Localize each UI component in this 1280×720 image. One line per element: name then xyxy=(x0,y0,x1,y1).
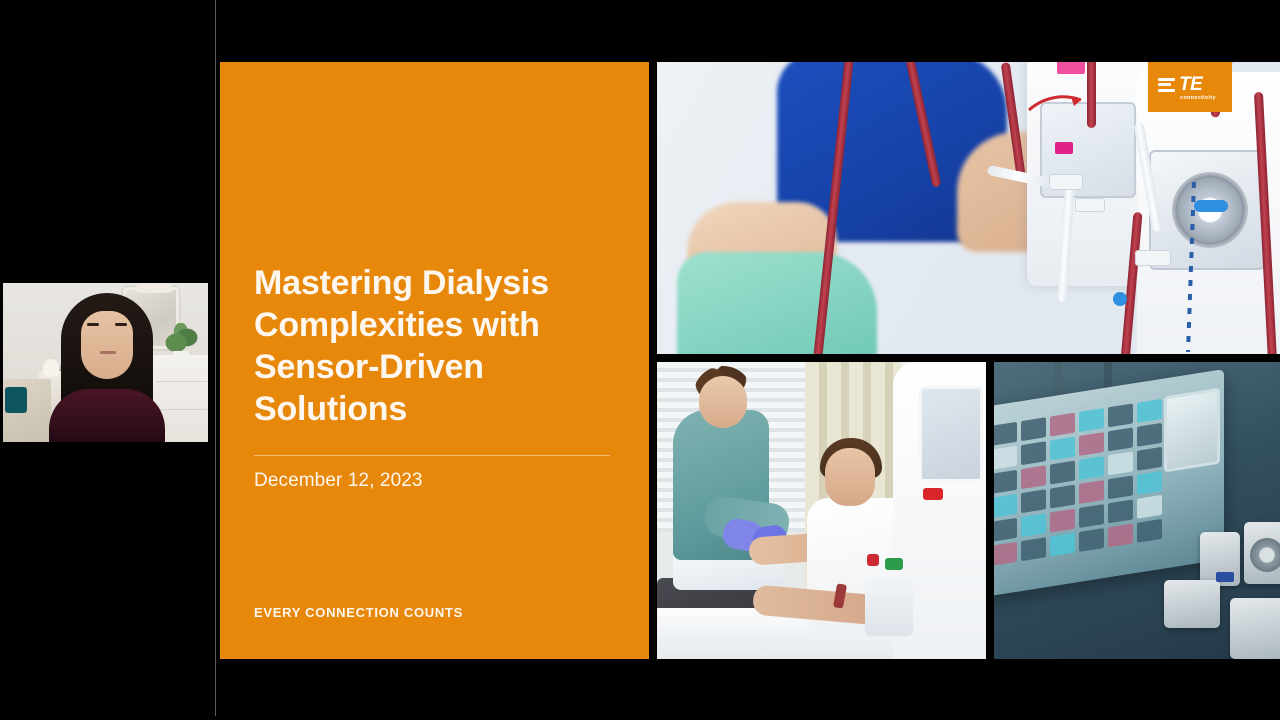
blood-tube xyxy=(1087,62,1096,128)
red-arrow-icon xyxy=(1027,92,1087,116)
green-indicator xyxy=(885,558,903,570)
pump-assembly xyxy=(1154,522,1280,659)
machine-screen xyxy=(919,386,983,482)
presenter-face xyxy=(81,311,133,379)
throw-pillow-decor xyxy=(5,387,27,413)
teal-drape xyxy=(677,252,877,354)
te-connectivity-logo: TE connectivity xyxy=(1148,62,1232,112)
presenter-eye-left xyxy=(87,323,99,326)
title-divider xyxy=(254,455,610,456)
presenter-figure xyxy=(43,293,171,442)
nurse-face xyxy=(699,376,747,428)
layout-divider xyxy=(215,0,216,716)
screen: Mastering DialysisComplexities withSenso… xyxy=(0,0,1280,720)
red-indicator xyxy=(867,554,879,566)
photo-control-panel xyxy=(994,362,1280,659)
pink-connector xyxy=(1057,62,1085,74)
presenter-webcam[interactable] xyxy=(3,283,208,442)
presenter-eye-right xyxy=(115,323,127,326)
red-indicator xyxy=(923,488,943,500)
machine-clamp xyxy=(865,576,913,636)
tube-clamp xyxy=(1135,250,1171,266)
slide-tagline: EVERY CONNECTION COUNTS xyxy=(254,605,463,620)
control-keypad xyxy=(994,399,1162,566)
te-logo-subtitle: connectivity xyxy=(1180,95,1216,101)
te-bars-icon xyxy=(1158,78,1175,92)
slide-title-panel: Mastering DialysisComplexities withSenso… xyxy=(220,62,649,659)
tube-clamp xyxy=(1049,174,1083,190)
te-logo-mark: TE xyxy=(1179,75,1202,94)
presentation-slide[interactable]: Mastering DialysisComplexities withSenso… xyxy=(220,62,1280,659)
tube-clamp xyxy=(1075,198,1105,212)
pump-rotor xyxy=(1172,172,1248,248)
slide-image-grid xyxy=(657,62,1280,659)
slide-date: December 12, 2023 xyxy=(254,470,423,492)
blue-connector xyxy=(1216,572,1234,582)
pump-rotor xyxy=(1250,538,1280,572)
slide-title: Mastering DialysisComplexities withSenso… xyxy=(254,262,622,431)
pump-module xyxy=(1164,580,1220,628)
pump-module xyxy=(1230,598,1280,659)
patient-face xyxy=(825,448,875,506)
presenter-mouth xyxy=(100,351,116,354)
blue-connector xyxy=(1113,292,1127,306)
photo-nurse-patient xyxy=(657,362,986,659)
pink-connector xyxy=(1055,142,1073,154)
machine-rail xyxy=(1054,362,1062,398)
machine-display xyxy=(1164,388,1220,473)
plant-pot-decor xyxy=(173,351,189,363)
presenter-torso xyxy=(49,389,165,442)
